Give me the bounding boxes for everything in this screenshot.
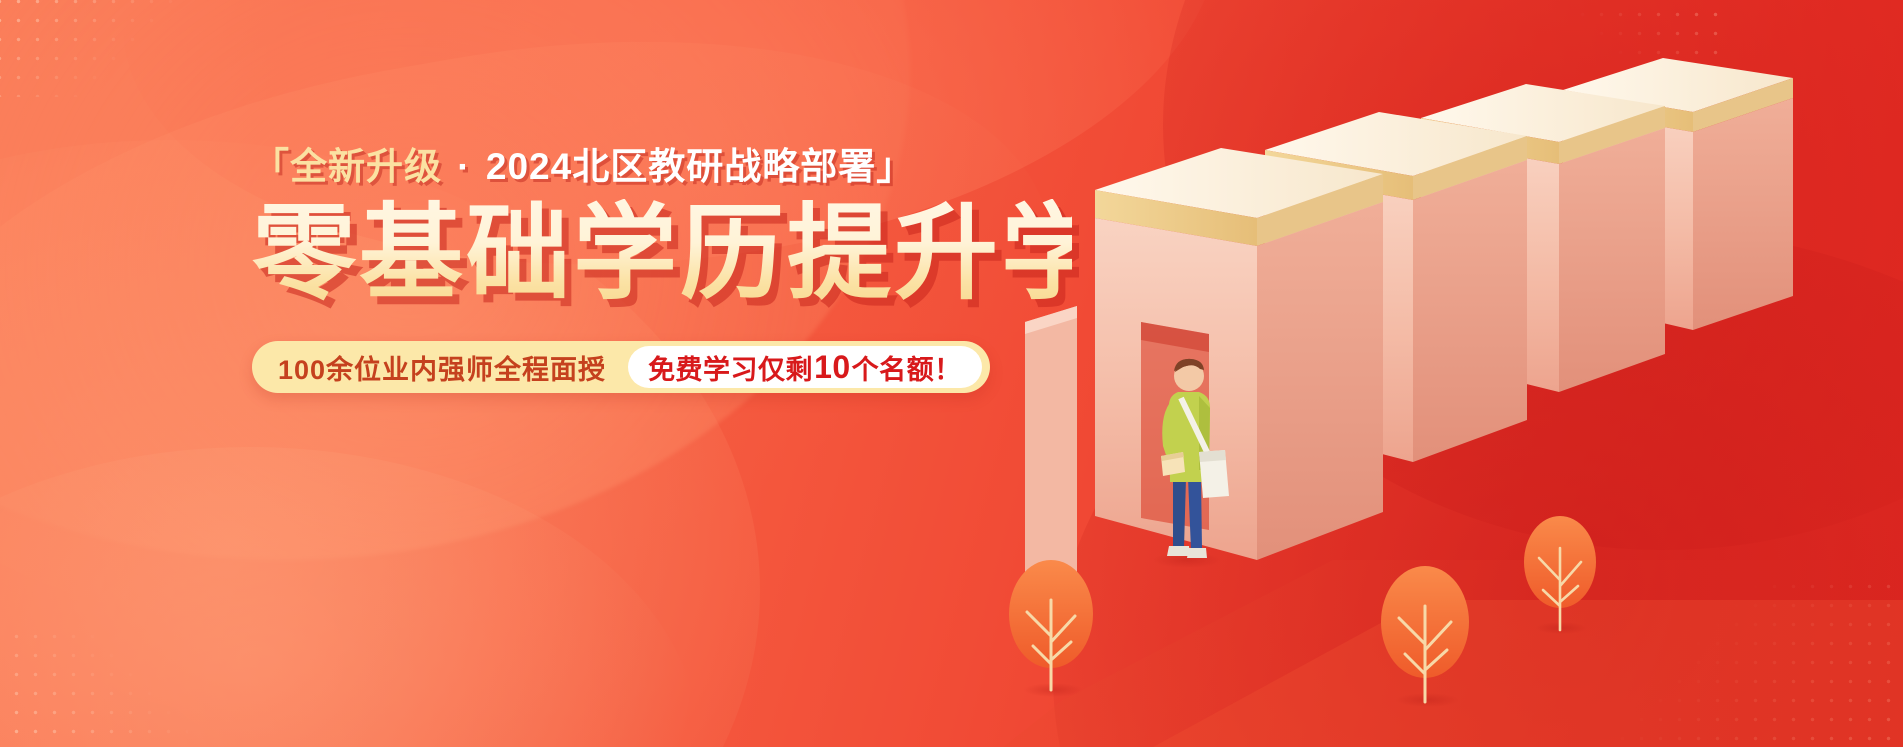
subtitle-close-bracket: 」 <box>876 146 914 187</box>
dot-pattern-bottom-right <box>1613 577 1903 747</box>
chip-number: 10 <box>813 349 852 386</box>
promo-banner: 「全新升级 · 2024北区教研战略部署」 零基础学历提升学霸班 100余位业内… <box>0 0 1903 747</box>
promo-pill-label: 100余位业内强师全程面授 <box>278 348 628 387</box>
page-title: 零基础学历提升学霸班 <box>252 199 1072 315</box>
tree-center <box>1381 566 1469 707</box>
subtitle-open-bracket: 「 <box>252 146 290 187</box>
isometric-book-archways-illustration <box>1003 0 1903 747</box>
student-figure <box>1153 359 1229 568</box>
subtitle-rest: 2024北区教研战略部署 <box>486 146 876 187</box>
limited-seats-chip: 免费学习仅剩10个名额！ <box>628 346 982 388</box>
dot-pattern-top-right <box>1573 0 1723 76</box>
dot-pattern-bottom-left <box>0 627 188 747</box>
tree-left <box>1009 560 1093 697</box>
subtitle-highlight: 全新升级 <box>290 146 442 187</box>
giant-book-arch-3 <box>1421 84 1665 392</box>
background-blob-bottom-left <box>0 447 700 747</box>
dot-pattern-top-left <box>0 0 175 97</box>
tree-right <box>1524 516 1596 634</box>
banner-subtitle: 「全新升级 · 2024北区教研战略部署」 <box>252 148 1072 185</box>
copy-block: 「全新升级 · 2024北区教研战略部署」 零基础学历提升学霸班 100余位业内… <box>252 148 1072 393</box>
giant-book-arch-4 <box>1563 58 1793 330</box>
chip-prefix: 免费学习仅剩 <box>648 348 813 387</box>
ground-plane <box>1003 560 1903 747</box>
promo-pill: 100余位业内强师全程面授 免费学习仅剩10个名额！ <box>252 341 990 393</box>
chip-suffix: 个名额！ <box>852 348 962 387</box>
subtitle-separator: · <box>442 146 486 187</box>
